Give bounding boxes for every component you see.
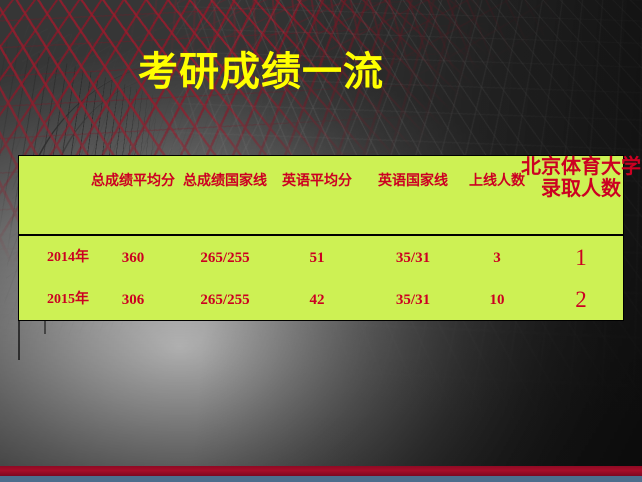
table-header-row: 总成绩平均分 总成绩国家线 英语平均分 英语国家线 上线人数 北京体育大学录取人…	[19, 156, 623, 236]
cell-total-line: 265/255	[177, 237, 273, 279]
table-row: 2014年 360 265/255 51 35/31 3 1	[19, 237, 623, 279]
cell-total-avg: 306	[91, 279, 175, 321]
presentation-slide: 考研成绩一流 总成绩平均分 总成绩国家线 英语平均分 英语国家线 上线人数 北京…	[0, 0, 642, 482]
footer-blue-bar	[0, 476, 642, 482]
cell-eng-line: 35/31	[367, 279, 459, 321]
header-cell-total-avg: 总成绩平均分	[91, 173, 175, 190]
header-cell-eng-avg: 英语平均分	[275, 173, 359, 190]
cell-passed: 10	[461, 279, 533, 321]
slide-title: 考研成绩一流	[138, 49, 384, 95]
header-cell-total-line: 总成绩国家线	[177, 173, 273, 190]
cell-admitted: 1	[531, 237, 631, 279]
footer-red-bar	[0, 466, 642, 476]
header-cell-admitted: 北京体育大学录取人数	[513, 156, 642, 200]
cell-total-line: 265/255	[177, 279, 273, 321]
cell-passed: 3	[461, 237, 533, 279]
cell-admitted: 2	[531, 279, 631, 321]
cell-eng-line: 35/31	[367, 237, 459, 279]
cell-total-avg: 360	[91, 237, 175, 279]
cell-eng-avg: 42	[275, 279, 359, 321]
header-cell-eng-line: 英语国家线	[367, 173, 459, 190]
table-row: 2015年 306 265/255 42 35/31 10 2	[19, 279, 623, 321]
cell-eng-avg: 51	[275, 237, 359, 279]
exam-score-table: 总成绩平均分 总成绩国家线 英语平均分 英语国家线 上线人数 北京体育大学录取人…	[18, 155, 624, 321]
